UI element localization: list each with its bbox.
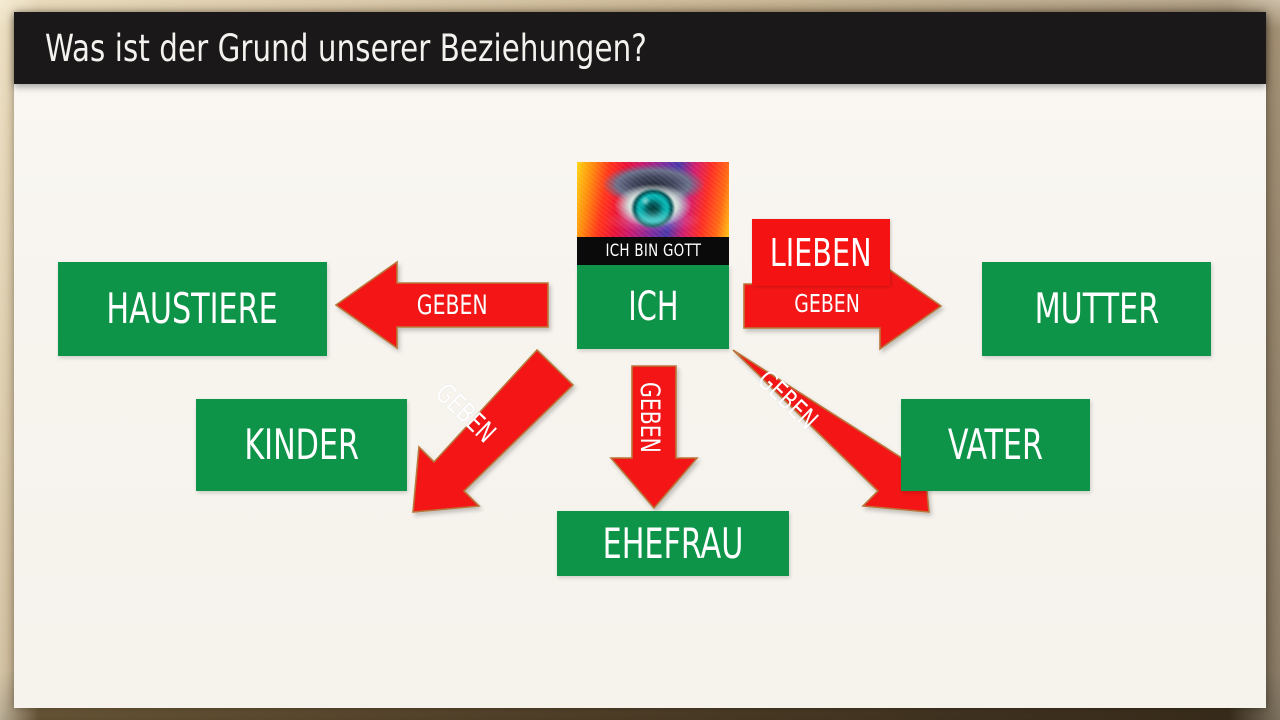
ich-bin-gott-caption: ICH BIN GOTT [577,237,729,265]
node-haustiere-label: HAUSTIERE [107,288,278,330]
node-vater: VATER [901,399,1090,491]
ich-bin-gott-caption-label: ICH BIN GOTT [605,241,701,261]
slide-canvas [14,12,1266,708]
arrow-label-mutter: GEBEN [794,291,860,316]
arrow-label-haustiere: GEBEN [417,292,488,319]
node-ehefrau-label: EHEFRAU [603,523,744,565]
painted-eye-icon [577,162,729,237]
node-ich: ICH [577,265,729,349]
node-ich-label: ICH [628,287,678,327]
node-vater-label: VATER [948,424,1043,466]
arrow-label-ehefrau: GEBEN [636,382,663,453]
slide-title-bar: Was ist der Grund unserer Beziehungen? [14,12,1266,84]
node-kinder: KINDER [196,399,407,491]
ich-bin-gott-image-block: ICH BIN GOTT [577,162,729,265]
node-mutter: MUTTER [982,262,1211,356]
node-kinder-label: KINDER [244,424,359,466]
node-ehefrau: EHEFRAU [557,511,789,576]
lieben-label-box: LIEBEN [752,219,890,286]
slide-frame: Was ist der Grund unserer Beziehungen? [0,0,1280,720]
lieben-label: LIEBEN [770,231,872,275]
node-mutter-label: MUTTER [1034,288,1159,330]
page-title: Was ist der Grund unserer Beziehungen? [45,27,647,70]
node-haustiere: HAUSTIERE [58,262,327,356]
